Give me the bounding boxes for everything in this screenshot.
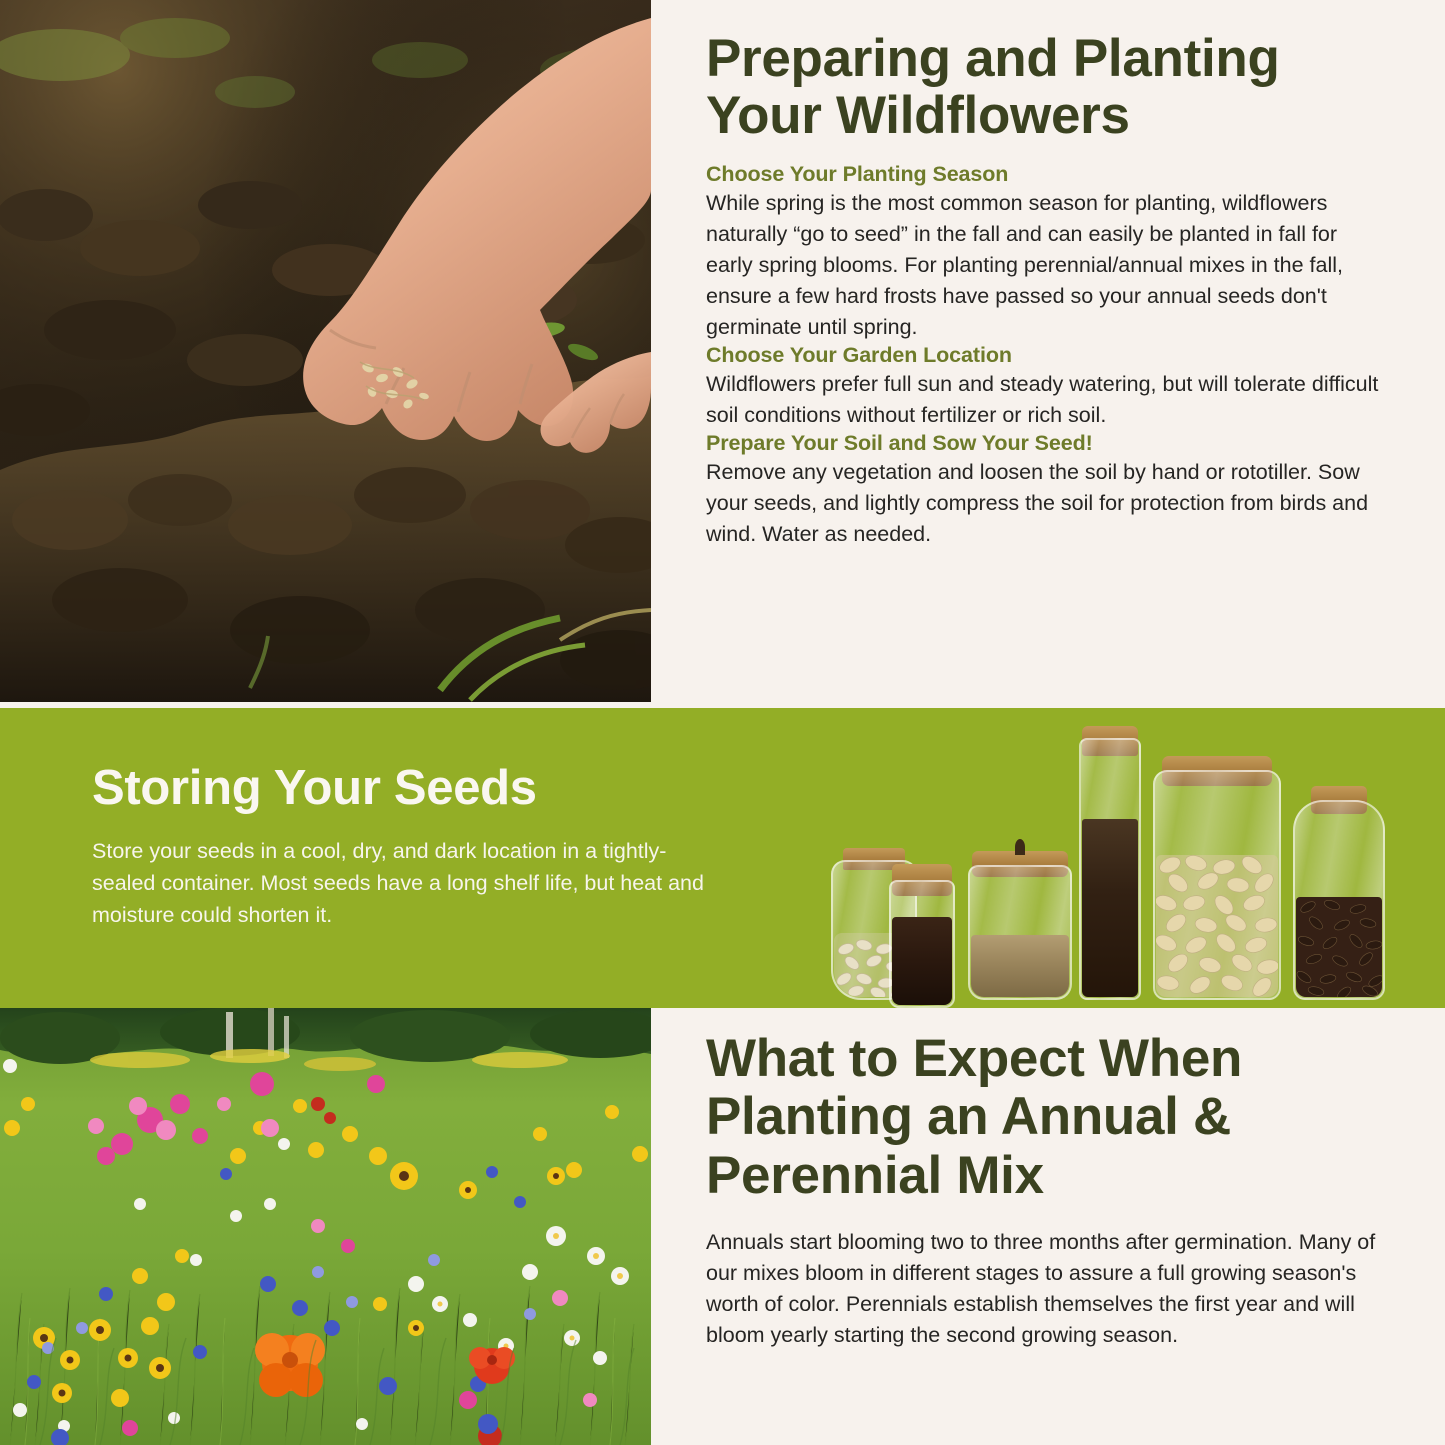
- expect-copy-column: What to Expect When Planting an Annual &…: [706, 1030, 1396, 1351]
- soil-photo-art: [0, 0, 651, 702]
- subheading-garden-location: Choose Your Garden Location: [706, 343, 1386, 368]
- section-what-to-expect: What to Expect When Planting an Annual &…: [0, 1008, 1445, 1445]
- wildflower-meadow-photo: [0, 1008, 651, 1445]
- section-preparing-and-planting: Preparing and Planting Your Wildflowers …: [0, 0, 1445, 708]
- block-prepare-soil: Prepare Your Soil and Sow Your Seed! Rem…: [706, 431, 1386, 550]
- seed-jars-photo: [823, 743, 1423, 1008]
- sunflower-seeds-fill: [1296, 897, 1382, 997]
- body-prepare-soil: Remove any vegetation and loosen the soi…: [706, 457, 1386, 550]
- tiny-brown-seeds-jar: [968, 865, 1072, 1000]
- body-storing: Store your seeds in a cool, dry, and dar…: [92, 836, 722, 931]
- body-garden-location: Wildflowers prefer full sun and steady w…: [706, 369, 1386, 431]
- body-planting-season: While spring is the most common season f…: [706, 188, 1386, 343]
- pumpkin-seeds-jar: [1153, 770, 1281, 1000]
- section-title-storing: Storing Your Seeds: [92, 763, 722, 814]
- hand-sowing-seeds-photo: [0, 0, 651, 702]
- meadow-photo-art: [0, 1008, 651, 1445]
- pumpkin-seeds-fill: [1156, 855, 1278, 997]
- block-planting-season: Choose Your Planting Season While spring…: [706, 162, 1386, 343]
- subheading-prepare-soil: Prepare Your Soil and Sow Your Seed!: [706, 431, 1386, 456]
- storing-copy-column: Storing Your Seeds Store your seeds in a…: [92, 763, 722, 932]
- section-title-what-to-expect: What to Expect When Planting an Annual &…: [706, 1030, 1396, 1205]
- subheading-planting-season: Choose Your Planting Season: [706, 162, 1386, 187]
- infographic-page: Preparing and Planting Your Wildflowers …: [0, 0, 1445, 1445]
- dark-seeds-jar: [889, 880, 955, 1008]
- sunflower-seeds-jar: [1293, 800, 1385, 1000]
- tall-tube-dark-seeds-jar: [1079, 738, 1141, 1000]
- page-title-preparing: Preparing and Planting Your Wildflowers: [706, 30, 1386, 144]
- section-storing-your-seeds: Storing Your Seeds Store your seeds in a…: [0, 708, 1445, 1008]
- preparing-copy-column: Preparing and Planting Your Wildflowers …: [706, 30, 1386, 550]
- block-garden-location: Choose Your Garden Location Wildflowers …: [706, 343, 1386, 431]
- body-what-to-expect: Annuals start blooming two to three mont…: [706, 1227, 1396, 1351]
